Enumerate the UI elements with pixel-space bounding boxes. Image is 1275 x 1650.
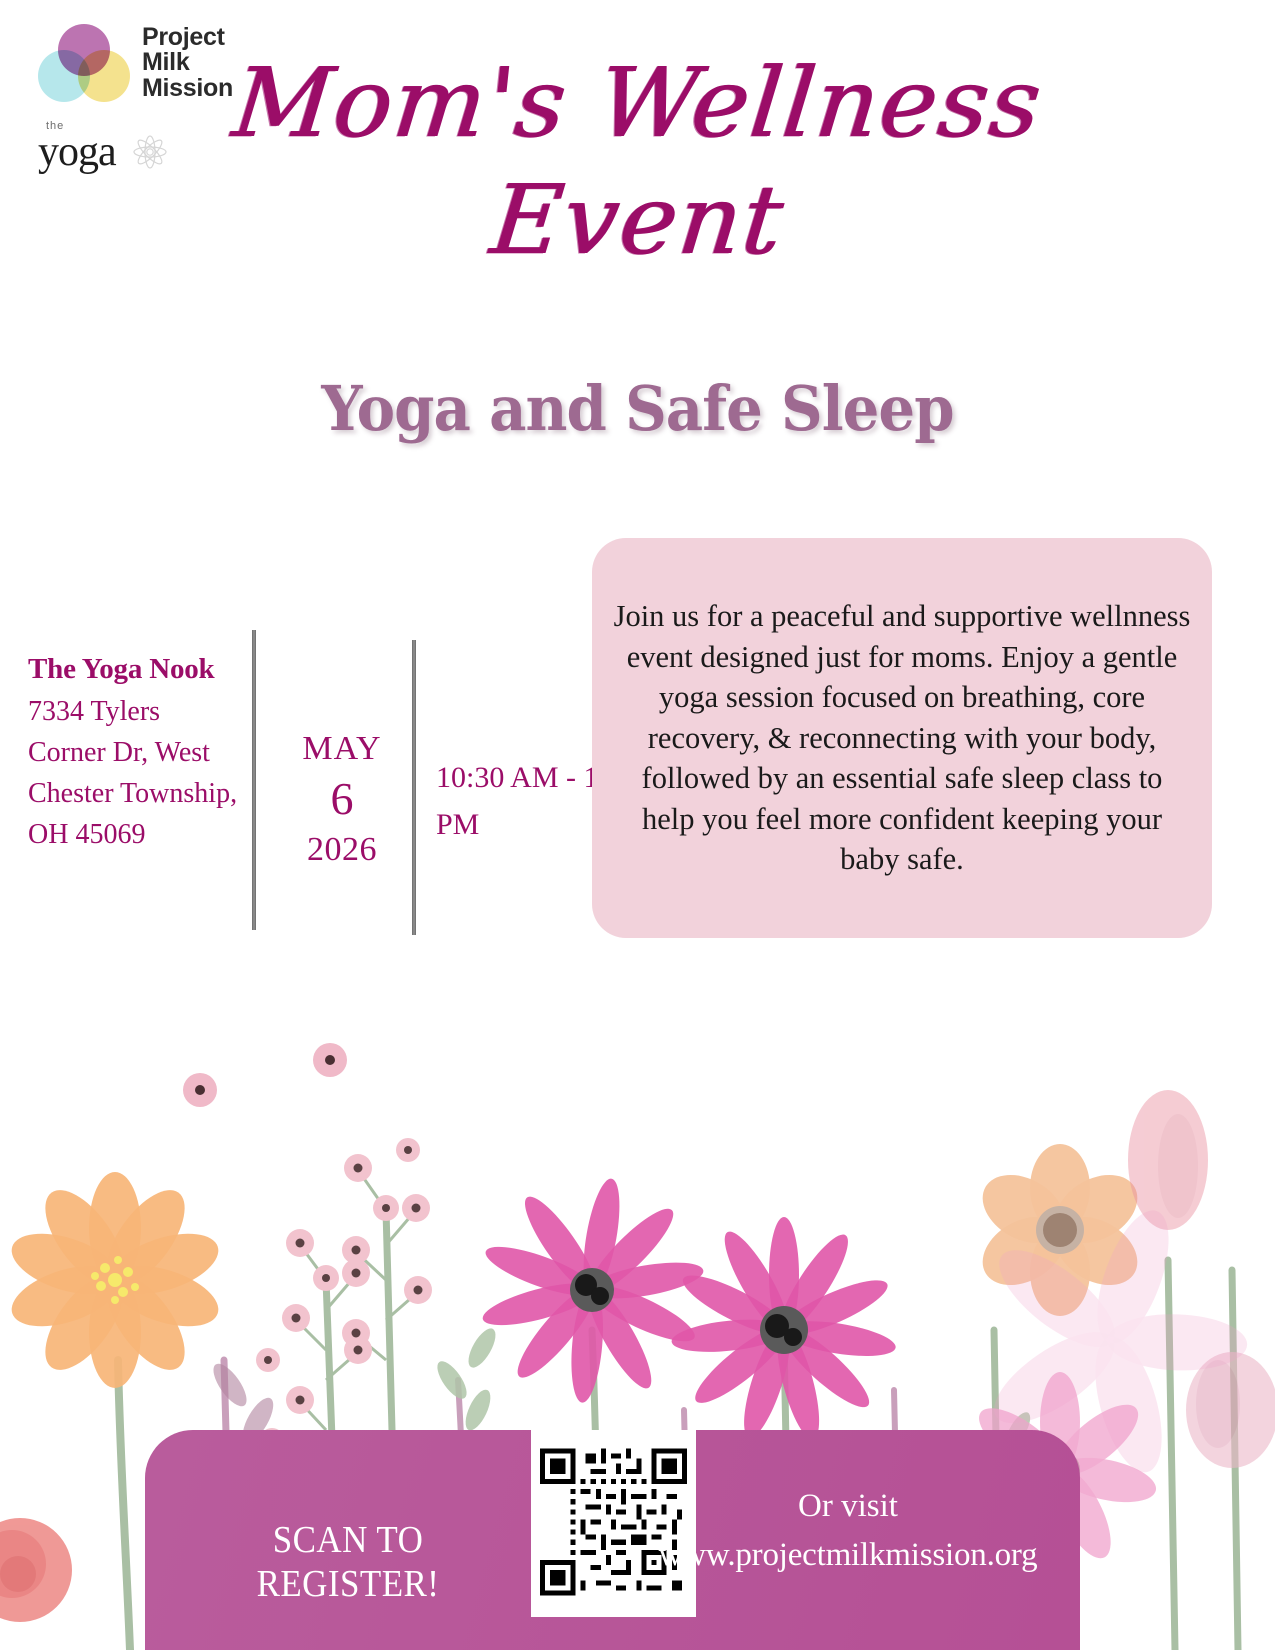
venue-name: The Yoga Nook bbox=[28, 648, 243, 691]
page-title: Mom's Wellness Event bbox=[0, 58, 1275, 266]
date-day: 6 bbox=[272, 772, 412, 825]
page-subtitle: Yoga and Safe Sleep bbox=[45, 372, 1231, 445]
date-year: 2026 bbox=[272, 831, 412, 869]
divider-right bbox=[412, 640, 416, 935]
logo-line-1: Project bbox=[142, 25, 233, 51]
description-card: Join us for a peaceful and supportive we… bbox=[592, 538, 1212, 938]
title-line-1: Mom's Wellness bbox=[0, 58, 1275, 149]
venue-address: 7334 Tylers Corner Dr, West Chester Town… bbox=[28, 691, 243, 856]
event-details-row: The Yoga Nook 7334 Tylers Corner Dr, Wes… bbox=[24, 630, 604, 940]
website-url[interactable]: www.projectmilkmission.org bbox=[638, 1537, 1058, 1574]
date-block: MAY 6 2026 bbox=[272, 730, 412, 869]
description-text: Join us for a peaceful and supportive we… bbox=[612, 596, 1192, 880]
or-visit-label: Or visit bbox=[638, 1488, 1058, 1525]
poster-canvas: Project Milk Mission the yoga Mom's Well… bbox=[0, 0, 1275, 1650]
date-month: MAY bbox=[272, 730, 412, 768]
divider-left bbox=[252, 630, 256, 930]
venue-block: The Yoga Nook 7334 Tylers Corner Dr, Wes… bbox=[28, 648, 243, 855]
scan-to-register-label: SCAN TO REGISTER! bbox=[178, 1518, 518, 1606]
registration-banner: SCAN TO REGISTER! bbox=[145, 1430, 1080, 1650]
title-line-2: Event bbox=[0, 175, 1275, 266]
website-block: Or visit www.projectmilkmission.org bbox=[638, 1488, 1058, 1574]
